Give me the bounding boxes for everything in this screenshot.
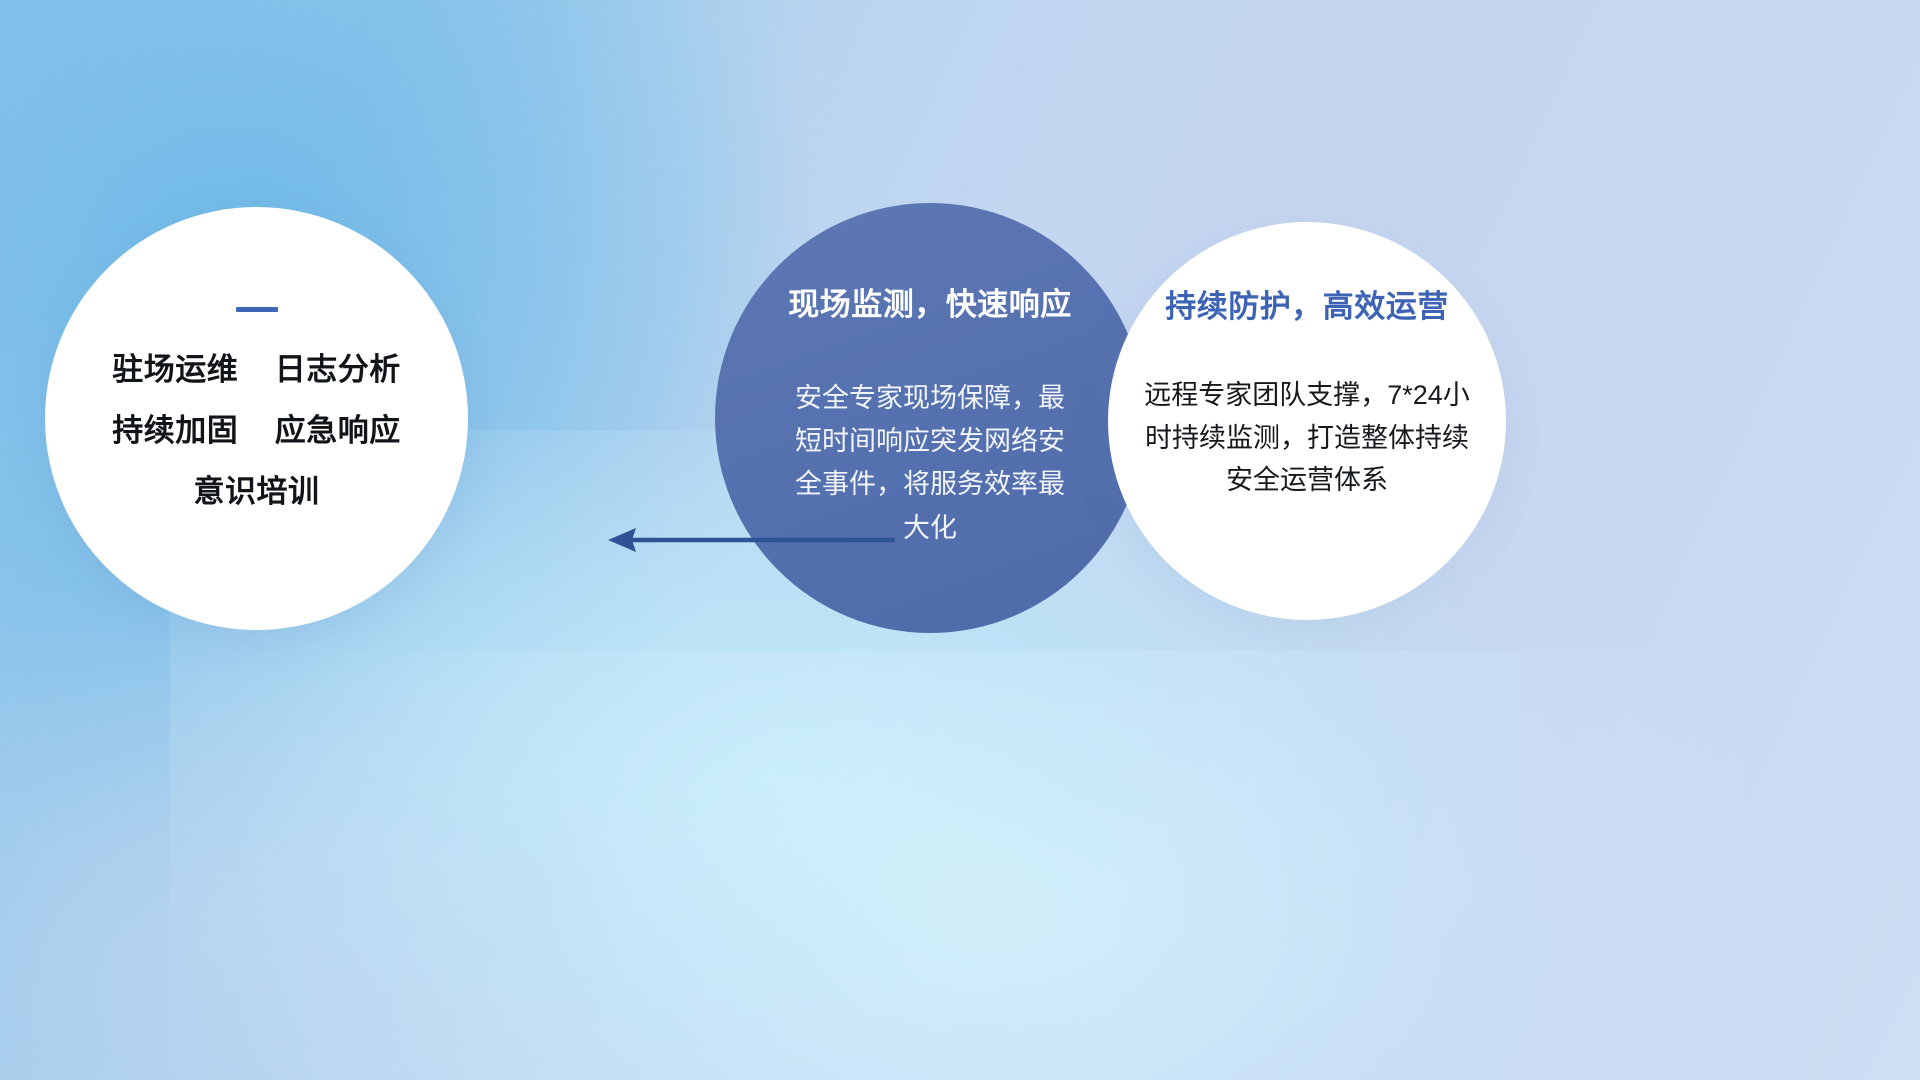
- continuous-protection-circle: 持续防护，高效运营 远程专家团队支撑，7*24小时持续监测，打造整体持续安全运营…: [1108, 222, 1506, 620]
- onsite-monitoring-circle: 现场监测，快速响应 安全专家现场保障，最短时间响应突发网络安全事件，将服务效率最…: [715, 203, 1145, 633]
- onsite-monitoring-title: 现场监测，快速响应: [788, 288, 1072, 322]
- onsite-monitoring-content: 现场监测，快速响应 安全专家现场保障，最短时间响应突发网络安全事件，将服务效率最…: [715, 203, 1145, 550]
- capability-circle-left: 驻场运维 日志分析 持续加固 应急响应 意识培训: [45, 207, 468, 630]
- capability-line-3: 意识培训: [194, 476, 320, 507]
- continuous-protection-title: 持续防护，高效运营: [1165, 290, 1449, 324]
- diagram-stage: 驻场运维 日志分析 持续加固 应急响应 意识培训 现场监测，快速响应 安全专家现…: [0, 0, 1920, 1080]
- capability-line-2: 持续加固 应急响应: [112, 415, 400, 446]
- capability-line-1: 驻场运维 日志分析: [112, 354, 400, 385]
- arrow-left-icon: [595, 515, 895, 565]
- horizontal-dash-icon: [236, 307, 278, 312]
- capability-circle-left-content: 驻场运维 日志分析 持续加固 应急响应 意识培训: [45, 207, 468, 507]
- continuous-protection-content: 持续防护，高效运营 远程专家团队支撑，7*24小时持续监测，打造整体持续安全运营…: [1108, 222, 1506, 502]
- continuous-protection-body: 远程专家团队支撑，7*24小时持续监测，打造整体持续安全运营体系: [1136, 374, 1478, 502]
